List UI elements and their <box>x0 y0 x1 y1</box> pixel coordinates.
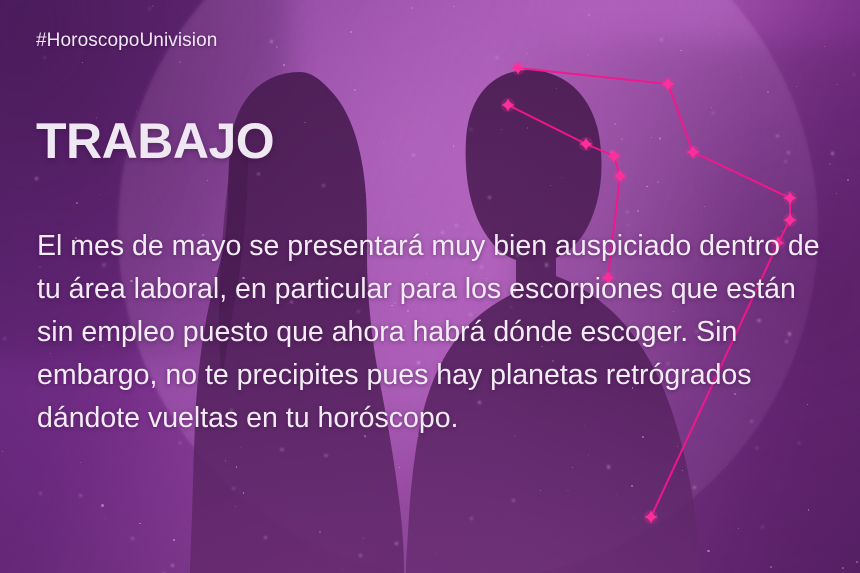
page-title: TRABAJO <box>36 116 274 166</box>
horoscope-card: #HoroscopoUnivision TRABAJO El mes de ma… <box>0 0 860 573</box>
horoscope-body-text: El mes de mayo se presentará muy bien au… <box>37 225 827 440</box>
hashtag-label: #HoroscopoUnivision <box>36 30 217 52</box>
card-content: #HoroscopoUnivision TRABAJO El mes de ma… <box>0 0 860 573</box>
